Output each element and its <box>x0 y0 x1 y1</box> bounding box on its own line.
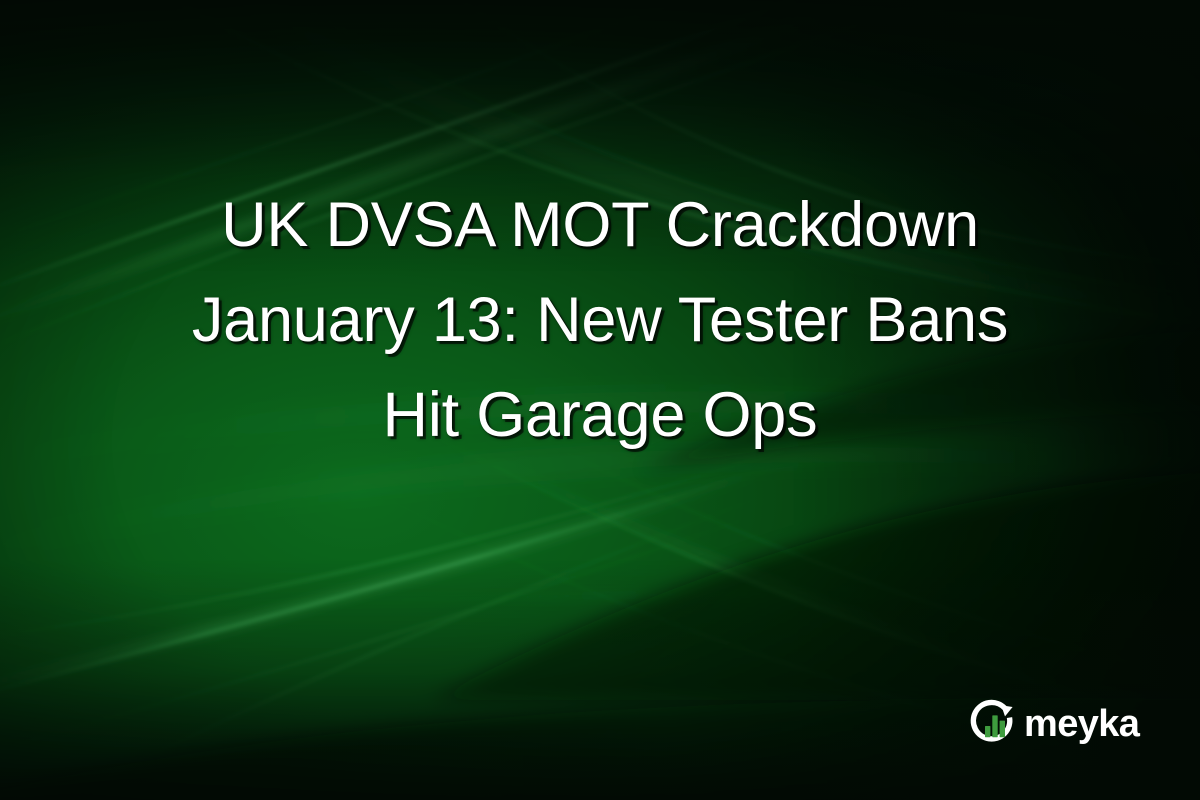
title-line-2: January 13: New Tester Bans <box>0 273 1200 368</box>
logo-bar-tall <box>992 715 997 737</box>
social-card-canvas: UK DVSA MOT Crackdown January 13: New Te… <box>0 0 1200 800</box>
meyka-circular-arrow-bar-chart-icon <box>968 697 1020 749</box>
logo-bar-short <box>985 726 990 737</box>
meyka-logo[interactable]: meyka <box>968 697 1139 749</box>
page-title: UK DVSA MOT Crackdown January 13: New Te… <box>0 178 1200 463</box>
logo-bar-medium <box>1000 721 1005 738</box>
title-line-3: Hit Garage Ops <box>0 368 1200 463</box>
meyka-wordmark: meyka <box>1024 705 1139 743</box>
title-line-1: UK DVSA MOT Crackdown <box>0 178 1200 273</box>
